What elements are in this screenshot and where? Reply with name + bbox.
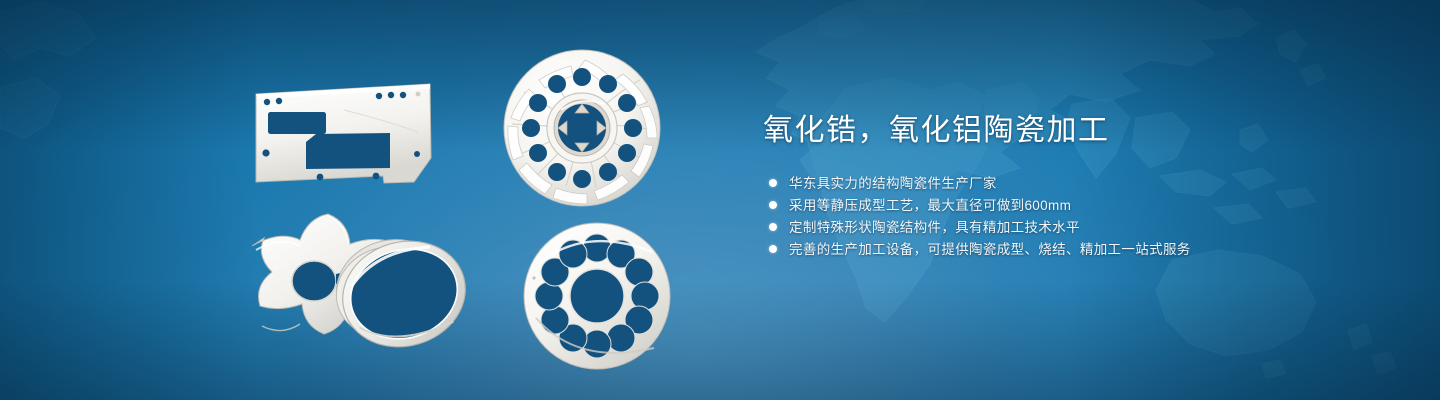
list-item: 采用等静压成型工艺，最大直径可做到600mm <box>769 198 1323 213</box>
banner-bullet-list: 华东具实力的结构陶瓷件生产厂家 采用等静压成型工艺，最大直径可做到600mm 定… <box>769 176 1323 257</box>
banner-copy: 氧化锆，氧化铝陶瓷加工 华东具实力的结构陶瓷件生产厂家 采用等静压成型工艺，最大… <box>763 112 1323 264</box>
list-item: 华东具实力的结构陶瓷件生产厂家 <box>769 176 1323 191</box>
ceramic-impeller-disc <box>504 50 660 206</box>
ceramic-perforated-disc <box>524 223 670 369</box>
list-item: 完善的生产加工设备，可提供陶瓷成型、烧结、精加工一站式服务 <box>769 242 1323 257</box>
bullet-dot-icon <box>769 245 777 253</box>
ceramic-products-image <box>232 36 702 384</box>
bullet-dot-icon <box>769 179 777 187</box>
bullet-dot-icon <box>769 201 777 209</box>
banner-headline: 氧化锆，氧化铝陶瓷加工 <box>763 112 1323 150</box>
bullet-text: 定制特殊形状陶瓷结构件，具有精加工技术水平 <box>789 220 1080 235</box>
bullet-text: 完善的生产加工设备，可提供陶瓷成型、烧结、精加工一站式服务 <box>789 242 1191 257</box>
bullet-dot-icon <box>769 223 777 231</box>
bullet-text: 华东具实力的结构陶瓷件生产厂家 <box>789 176 997 191</box>
ceramic-mounting-plate <box>256 84 431 183</box>
bullet-text: 采用等静压成型工艺，最大直径可做到600mm <box>789 198 1071 213</box>
list-item: 定制特殊形状陶瓷结构件，具有精加工技术水平 <box>769 220 1323 235</box>
hero-banner: 氧化锆，氧化铝陶瓷加工 华东具实力的结构陶瓷件生产厂家 采用等静压成型工艺，最大… <box>0 0 1440 400</box>
